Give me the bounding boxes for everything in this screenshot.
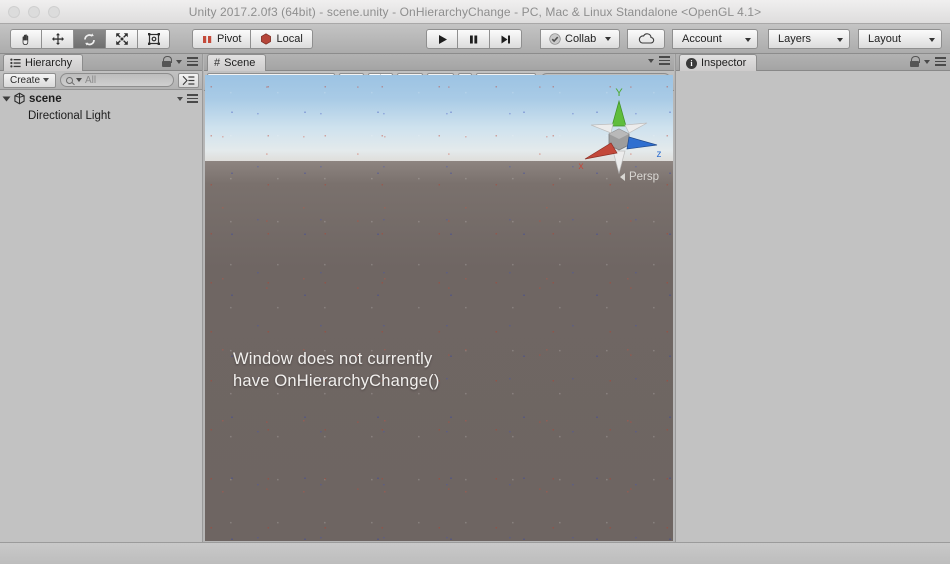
playback-group (426, 29, 522, 49)
list-item[interactable]: scene (0, 90, 202, 107)
hand-tool-button[interactable] (10, 29, 42, 49)
collab-group: Collab (540, 29, 620, 49)
local-icon (260, 33, 272, 45)
gizmo-axis-x-pos (625, 123, 647, 133)
layers-group: Layers (768, 29, 850, 49)
panel-menu-icon[interactable] (659, 56, 670, 65)
pause-icon (467, 33, 480, 46)
status-bar (0, 542, 950, 564)
chevron-down-icon (745, 38, 751, 42)
tab-hierarchy[interactable]: Hierarchy (3, 54, 83, 71)
collab-button[interactable]: Collab (540, 29, 620, 49)
local-label: Local (276, 33, 302, 45)
window-title: Unity 2017.2.0f3 (64bit) - scene.unity -… (0, 5, 950, 19)
pivot-group: Pivot Local (192, 29, 313, 49)
expand-triangle-icon[interactable] (3, 96, 11, 101)
scene-row-menu[interactable] (177, 94, 198, 103)
hierarchy-tab-row: Hierarchy (0, 54, 202, 71)
perspective-label: Persp (629, 171, 659, 183)
rotate-icon (82, 32, 97, 47)
scene-panel: # Scene Shaded 2D (204, 54, 674, 542)
play-button[interactable] (426, 29, 458, 49)
search-icon (66, 77, 73, 84)
gizmo-axis-y: Y (612, 87, 626, 126)
tab-scene[interactable]: # Scene (207, 54, 266, 71)
collab-label: Collab (565, 33, 596, 45)
transform-tools-group (10, 29, 170, 49)
scale-icon (115, 32, 129, 46)
account-button[interactable]: Account (672, 29, 758, 49)
chevron-down-icon (605, 37, 611, 41)
panel-menu-icon[interactable] (935, 57, 946, 66)
create-label: Create (10, 75, 40, 86)
hand-icon (19, 32, 33, 46)
play-icon (436, 33, 449, 46)
hierarchy-search-placeholder: All (85, 75, 96, 86)
chevron-down-icon (176, 60, 182, 64)
inspector-tab-label: Inspector (701, 57, 746, 69)
inspector-tab-tools (910, 56, 946, 67)
lock-icon[interactable] (162, 56, 171, 67)
account-label: Account (682, 33, 722, 45)
main-toolbar: Pivot Local (0, 24, 950, 54)
gizmo-axis-z-neg (591, 124, 613, 133)
cloud-icon (638, 33, 655, 45)
zoom-button[interactable] (48, 6, 60, 18)
svg-text:z: z (657, 149, 662, 160)
scene-viewport[interactable]: Window does not currently have OnHierarc… (205, 75, 673, 541)
scene-icon (13, 92, 26, 105)
scale-tool-button[interactable] (106, 29, 138, 49)
pivot-label: Pivot (217, 33, 241, 45)
cloud-button[interactable] (627, 29, 665, 49)
chevron-down-icon (177, 97, 183, 101)
chevron-down-icon (648, 59, 654, 63)
hierarchy-search-input[interactable]: All (60, 73, 174, 87)
account-group: Account (672, 29, 758, 49)
layout-button[interactable]: Layout (858, 29, 942, 49)
cloud-group (627, 29, 665, 49)
minimize-button[interactable] (28, 6, 40, 18)
perspective-toggle[interactable]: Persp (620, 171, 659, 183)
scene-tab-row: # Scene (204, 54, 674, 71)
inspector-body (676, 72, 950, 542)
step-icon (499, 33, 512, 46)
row-menu-icon[interactable] (187, 94, 198, 103)
chevron-down-icon (76, 78, 82, 82)
unity-editor-window: Unity 2017.2.0f3 (64bit) - scene.unity -… (0, 0, 950, 564)
chevron-down-icon (929, 38, 935, 42)
collab-check-icon (549, 33, 561, 45)
sort-icon (182, 75, 195, 86)
grid-icon: # (214, 58, 220, 69)
hierarchy-toolbar: Create All (0, 71, 202, 90)
layout-group: Layout (858, 29, 942, 49)
create-button[interactable]: Create (3, 73, 56, 88)
layers-button[interactable]: Layers (768, 29, 850, 49)
pivot-toggle-button[interactable]: Pivot (192, 29, 251, 49)
layers-label: Layers (778, 33, 811, 45)
info-icon: i (686, 58, 697, 69)
chevron-down-icon (924, 60, 930, 64)
step-button[interactable] (490, 29, 522, 49)
sort-hierarchy-button[interactable] (178, 73, 199, 88)
hierarchy-tab-tools (162, 56, 198, 67)
hierarchy-tree: scene Directional Light (0, 90, 202, 124)
chevron-down-icon (43, 78, 49, 82)
pivot-icon (202, 34, 213, 45)
scene-tab-label: Scene (224, 57, 255, 69)
gizmo-axis-z: z (627, 137, 662, 160)
rect-icon (147, 32, 161, 46)
move-tool-button[interactable] (42, 29, 74, 49)
list-item[interactable]: Directional Light (0, 107, 202, 124)
pause-button[interactable] (458, 29, 490, 49)
close-button[interactable] (8, 6, 20, 18)
layout-label: Layout (868, 33, 901, 45)
svg-text:Y: Y (615, 87, 623, 99)
viewport-message: Window does not currently have OnHierarc… (233, 348, 440, 392)
inspector-tab-row: i Inspector (676, 54, 950, 71)
local-toggle-button[interactable]: Local (251, 29, 312, 49)
panel-menu-icon[interactable] (187, 57, 198, 66)
window-controls (8, 6, 60, 18)
rotate-tool-button[interactable] (74, 29, 106, 49)
hierarchy-item-label: scene (29, 93, 62, 105)
chevron-down-icon (837, 38, 843, 42)
inspector-panel: i Inspector (675, 54, 950, 542)
gizmo-axis-y-neg (613, 151, 625, 173)
tab-inspector[interactable]: i Inspector (679, 54, 757, 71)
hierarchy-panel: Hierarchy Create All (0, 54, 203, 542)
move-icon (51, 32, 65, 46)
hierarchy-tab-label: Hierarchy (25, 57, 72, 69)
svg-text:x: x (579, 161, 584, 172)
rect-tool-button[interactable] (138, 29, 170, 49)
hierarchy-icon (10, 58, 21, 68)
editor-panels: Hierarchy Create All (0, 54, 950, 542)
scene-tab-tools (648, 56, 670, 65)
viewport-message-line2: have OnHierarchyChange() (233, 370, 440, 392)
gizmo-axis-x: x (579, 143, 618, 172)
viewport-message-line1: Window does not currently (233, 348, 440, 370)
lock-icon[interactable] (910, 56, 919, 67)
os-title-bar: Unity 2017.2.0f3 (64bit) - scene.unity -… (0, 0, 950, 24)
hierarchy-item-label: Directional Light (28, 110, 110, 122)
chevron-left-icon (620, 173, 625, 181)
